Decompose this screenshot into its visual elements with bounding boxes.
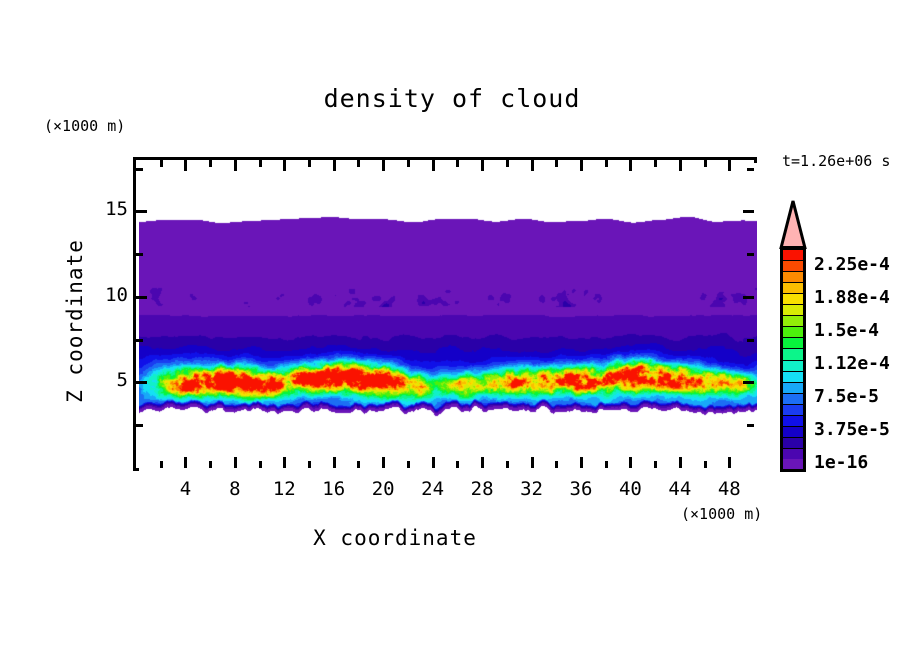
x-tick-minor-top	[160, 160, 163, 167]
x-tick-major	[728, 457, 731, 468]
colorbar-label: 1.12e-4	[814, 353, 890, 374]
y-tick-major-right	[743, 296, 754, 299]
colorbar-label: 1.5e-4	[814, 320, 879, 341]
x-tick-label: 48	[699, 478, 759, 500]
colorbar-band	[783, 304, 803, 315]
x-tick-major	[382, 457, 385, 468]
x-tick-minor	[209, 461, 212, 468]
y-tick-minor-right	[747, 168, 754, 171]
colorbar-band	[783, 371, 803, 382]
x-tick-major	[234, 457, 237, 468]
x-tick-minor-top	[605, 160, 608, 167]
x-axis-title: X coordinate	[0, 526, 790, 550]
colorbar-band	[783, 393, 803, 404]
x-tick-major	[629, 457, 632, 468]
colorbar-band	[783, 315, 803, 326]
colorbar-band	[783, 337, 803, 348]
x-tick-major-top	[382, 160, 385, 171]
x-tick-major-top	[184, 160, 187, 171]
colorbar-band	[783, 404, 803, 415]
y-tick-major	[136, 381, 147, 384]
x-tick-major-top	[432, 160, 435, 171]
colorbar-band	[783, 360, 803, 371]
y-tick-minor-right	[747, 424, 754, 427]
y-tick-label: 10	[68, 284, 128, 306]
x-tick-major	[283, 457, 286, 468]
colorbar-label: 7.5e-5	[814, 386, 879, 407]
x-tick-minor-top	[209, 160, 212, 167]
x-tick-major	[580, 457, 583, 468]
cloud-density-heatmap	[139, 163, 757, 471]
x-tick-minor-top	[308, 160, 311, 167]
colorbar-band	[783, 348, 803, 359]
colorbar: 1e-163.75e-57.5e-51.12e-41.5e-41.88e-42.…	[778, 199, 808, 479]
x-tick-minor-top	[506, 160, 509, 167]
colorbar-label: 1e-16	[814, 452, 868, 473]
colorbar-band	[783, 260, 803, 271]
x-tick-major-top	[531, 160, 534, 171]
x-tick-major	[333, 457, 336, 468]
time-annotation: t=1.26e+06 s	[782, 152, 890, 170]
x-tick-minor	[704, 461, 707, 468]
x-tick-major-top	[728, 160, 731, 171]
x-tick-minor	[605, 461, 608, 468]
x-tick-major	[432, 457, 435, 468]
x-tick-major-top	[283, 160, 286, 171]
y-tick-minor	[136, 168, 143, 171]
x-tick-major	[679, 457, 682, 468]
colorbar-over-arrow	[778, 199, 808, 249]
x-tick-minor-top	[407, 160, 410, 167]
x-tick-major-top	[629, 160, 632, 171]
colorbar-band	[783, 426, 803, 437]
x-tick-minor-top	[555, 160, 558, 167]
x-tick-major-top	[333, 160, 336, 171]
y-tick-minor	[136, 253, 143, 256]
x-tick-minor-top	[357, 160, 360, 167]
y-axis-units-label: (×1000 m)	[44, 117, 125, 135]
y-tick-minor	[136, 424, 143, 427]
colorbar-band	[783, 415, 803, 426]
x-tick-minor-top	[654, 160, 657, 167]
chart-title: density of cloud	[0, 84, 904, 113]
x-tick-minor	[407, 461, 410, 468]
x-tick-minor	[160, 461, 163, 468]
x-tick-minor	[308, 461, 311, 468]
colorbar-bands	[780, 246, 806, 472]
x-tick-major-top	[679, 160, 682, 171]
x-tick-major-top	[580, 160, 583, 171]
colorbar-label: 1.88e-4	[814, 287, 890, 308]
x-tick-minor-top	[456, 160, 459, 167]
x-tick-minor	[456, 461, 459, 468]
x-tick-major-top	[234, 160, 237, 171]
x-axis-units-label: (×1000 m)	[681, 505, 762, 523]
x-tick-minor	[555, 461, 558, 468]
colorbar-band	[783, 293, 803, 304]
y-tick-minor	[136, 339, 143, 342]
y-tick-label: 15	[68, 198, 128, 220]
x-tick-minor-top	[259, 160, 262, 167]
y-tick-label: 5	[68, 369, 128, 391]
x-tick-minor	[357, 461, 360, 468]
colorbar-band	[783, 448, 803, 459]
y-tick-minor-right	[747, 253, 754, 256]
y-tick-major-right	[743, 210, 754, 213]
x-tick-major	[481, 457, 484, 468]
x-tick-major	[184, 457, 187, 468]
x-tick-minor-top	[704, 160, 707, 167]
y-tick-minor-right	[747, 339, 754, 342]
colorbar-band	[783, 249, 803, 260]
x-tick-major	[531, 457, 534, 468]
x-tick-minor	[654, 461, 657, 468]
plot-area	[133, 157, 757, 471]
colorbar-band	[783, 437, 803, 448]
colorbar-band	[783, 459, 803, 469]
x-tick-major-top	[481, 160, 484, 171]
colorbar-label: 3.75e-5	[814, 419, 890, 440]
y-tick-major	[136, 210, 147, 213]
y-tick-major-right	[743, 381, 754, 384]
x-tick-minor	[506, 461, 509, 468]
colorbar-band	[783, 282, 803, 293]
colorbar-band	[783, 271, 803, 282]
colorbar-band	[783, 326, 803, 337]
x-tick-minor	[259, 461, 262, 468]
colorbar-label: 2.25e-4	[814, 254, 890, 275]
colorbar-band	[783, 382, 803, 393]
y-tick-major	[136, 296, 147, 299]
